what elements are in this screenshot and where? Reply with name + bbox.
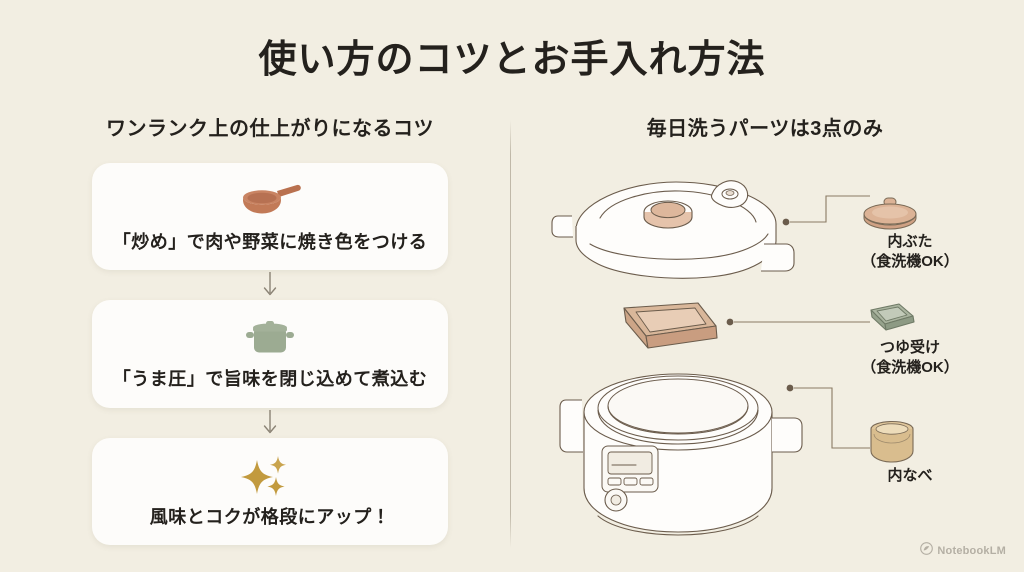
part-label-1: 内ぶた （食洗機OK） <box>830 232 990 273</box>
part-1-name: 内ぶた <box>887 233 932 250</box>
inner-lid-icon <box>861 196 919 235</box>
left-section-heading: ワンランク上の仕上がりになるコツ <box>60 112 480 141</box>
tip-card-1[interactable]: 「炒め」で肉や野菜に焼き色をつける <box>92 163 448 270</box>
pot-icon <box>92 316 448 362</box>
cooker-body-illustration <box>560 374 802 535</box>
column-divider <box>510 120 511 548</box>
watermark: NotebookLM <box>920 542 1006 560</box>
tip-card-3-label: 風味とコクが格段にアップ！ <box>92 506 448 529</box>
part-2-note: （食洗機OK） <box>830 358 990 378</box>
cooker-lid-illustration <box>552 181 794 278</box>
sparkles-icon <box>92 454 448 500</box>
down-arrow-icon-2 <box>92 408 448 438</box>
part-label-2: つゆ受け （食洗機OK） <box>830 338 990 379</box>
frying-pan-icon <box>92 179 448 225</box>
right-column: 毎日洗うパーツは3点のみ <box>540 112 990 163</box>
right-section-heading: 毎日洗うパーツは3点のみ <box>540 112 990 141</box>
part-1-note: （食洗機OK） <box>830 252 990 272</box>
slide-root: 使い方のコツとお手入れ方法 ワンランク上の仕上がりになるコツ 「炒め」で肉や野菜… <box>0 0 1024 572</box>
tip-card-3[interactable]: 風味とコクが格段にアップ！ <box>92 438 448 545</box>
down-arrow-icon-1 <box>92 270 448 300</box>
part-2-name: つゆ受け <box>880 339 940 356</box>
notebooklm-logo-icon <box>920 542 933 560</box>
inner-pot-icon <box>866 420 918 471</box>
left-column: ワンランク上の仕上がりになるコツ 「炒め」で肉や野菜に焼き色をつける <box>60 112 480 545</box>
tip-card-2-label: 「うま圧」で旨味を閉じ込めて煮込む <box>92 368 448 391</box>
tip-card-1-label: 「炒め」で肉や野菜に焼き色をつける <box>92 231 448 254</box>
drip-tray-illustration <box>624 303 717 348</box>
watermark-label: NotebookLM <box>937 545 1006 557</box>
part-3-name: 内なべ <box>887 467 932 484</box>
part-label-3: 内なべ <box>830 466 990 486</box>
drip-tray-icon <box>865 300 919 337</box>
page-title: 使い方のコツとお手入れ方法 <box>0 38 1024 84</box>
tip-card-2[interactable]: 「うま圧」で旨味を閉じ込めて煮込む <box>92 300 448 407</box>
